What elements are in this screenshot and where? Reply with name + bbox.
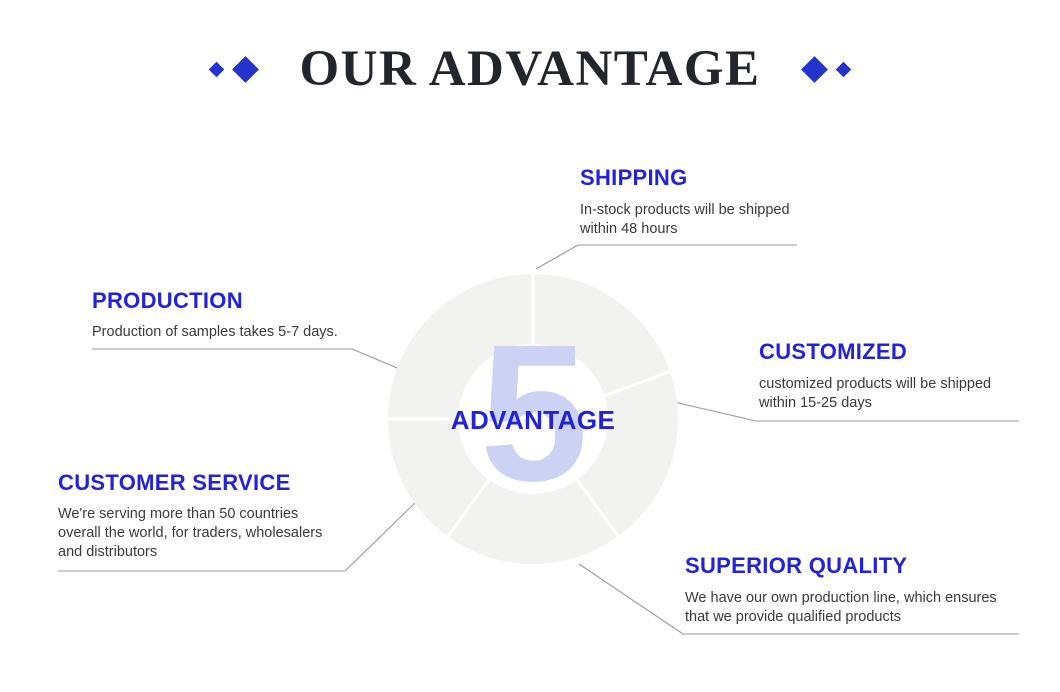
callout-body: In-stock products will be shipped within…: [580, 201, 790, 239]
callout-body-line: customized products will be shipped: [759, 375, 991, 394]
callout-title: PRODUCTION: [92, 289, 338, 313]
center-ring: [388, 274, 678, 564]
callout-body: customized products will be shipped with…: [759, 375, 991, 413]
callout-title: SUPERIOR QUALITY: [685, 554, 997, 578]
infographic-canvas: OUR ADVANTAGE: [0, 0, 1060, 692]
ring-svg: [388, 274, 678, 564]
callout-customized[interactable]: CUSTOMIZED customized products will be s…: [759, 340, 991, 413]
connector-shipping: [536, 245, 797, 269]
callout-production[interactable]: PRODUCTION Production of samples takes 5…: [92, 289, 338, 342]
callout-body-line: We're serving more than 50 countries: [58, 505, 322, 524]
callout-body: We're serving more than 50 countries ove…: [58, 505, 322, 562]
callout-body-line: Production of samples takes 5-7 days.: [92, 323, 338, 342]
callout-body-line: that we provide qualified products: [685, 608, 997, 627]
callout-body-line: and distributors: [58, 543, 322, 562]
callout-shipping[interactable]: SHIPPING In-stock products will be shipp…: [580, 166, 790, 239]
callout-title: CUSTOMER SERVICE: [58, 471, 322, 495]
diamond-icon: [209, 61, 225, 77]
connector-production: [92, 349, 402, 370]
callout-body-line: In-stock products will be shipped: [580, 201, 790, 220]
diamond-icon: [801, 56, 828, 83]
page-title: OUR ADVANTAGE: [255, 44, 804, 95]
callout-body-line: within 48 hours: [580, 220, 790, 239]
diamond-icon: [835, 61, 851, 77]
callout-title: SHIPPING: [580, 166, 790, 190]
header: OUR ADVANTAGE: [0, 34, 1060, 104]
callout-body: Production of samples takes 5-7 days.: [92, 323, 338, 342]
diamond-group-left: [211, 60, 255, 79]
callout-body-line: within 15-25 days: [759, 394, 991, 413]
diamond-group-right: [805, 60, 849, 79]
callout-body-line: We have our own production line, which e…: [685, 589, 997, 608]
callout-superior-quality[interactable]: SUPERIOR QUALITY We have our own product…: [685, 554, 997, 627]
callout-body-line: overall the world, for traders, wholesal…: [58, 524, 322, 543]
callout-title: CUSTOMIZED: [759, 340, 991, 364]
callout-customer-service[interactable]: CUSTOMER SERVICE We're serving more than…: [58, 471, 322, 562]
callout-body: We have our own production line, which e…: [685, 589, 997, 627]
